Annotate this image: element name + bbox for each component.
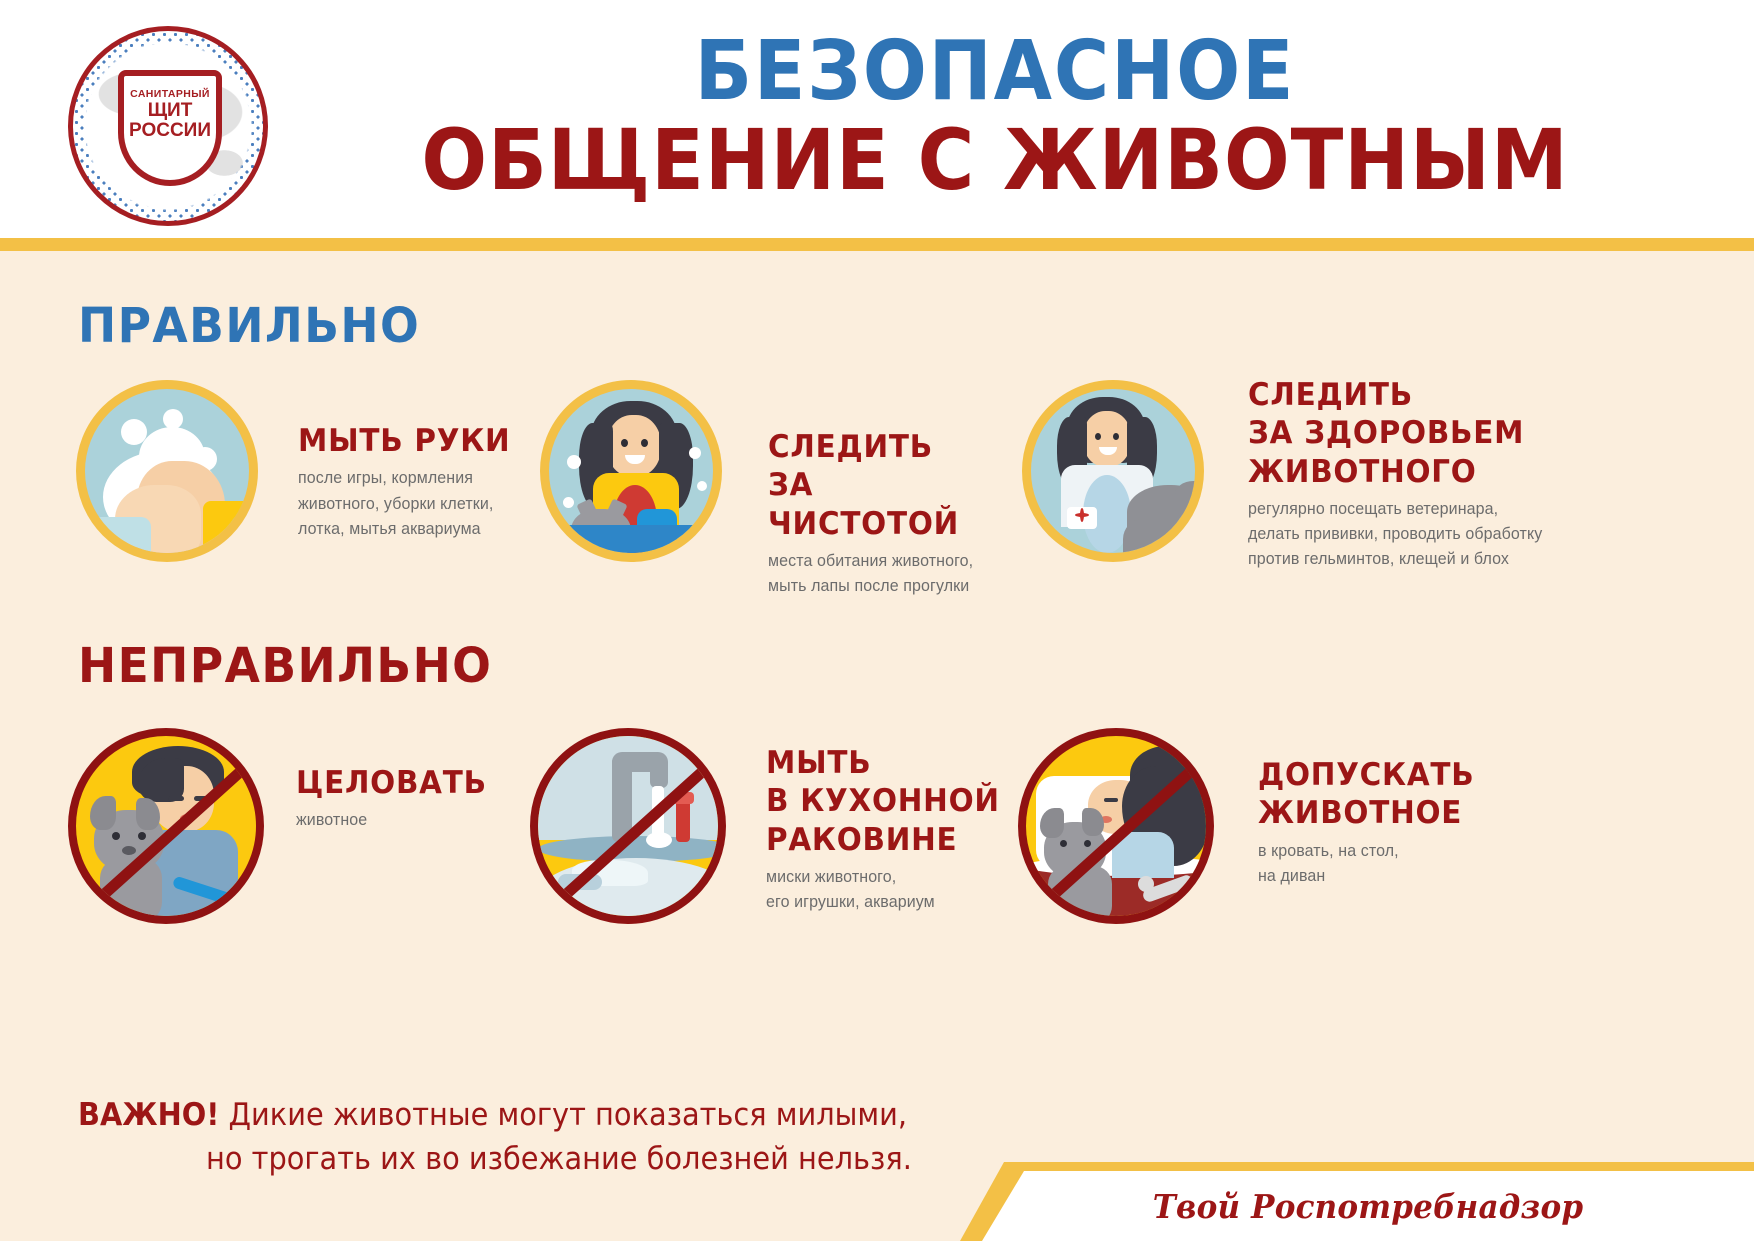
title-line-1: БЕЗОПАСНОЕ [383,34,1607,109]
sanitary-shield-logo: САНИТАРНЫЙ ЩИТ РОССИИ [68,26,268,226]
important-line-2: но трогать их во избежание болезней нель… [206,1137,1017,1181]
correct-item-3-title: СЛЕДИТЬ ЗА ЗДОРОВЬЕМ ЖИВОТНОГО [1248,376,1562,491]
poster-header: САНИТАРНЫЙ ЩИТ РОССИИ БЕЗОПАСНОЕ ОБЩЕНИЕ… [0,0,1754,247]
wrong-item-2-sub: миски животного, его игрушки, аквариум [766,865,1018,915]
section-heading-correct: ПРАВИЛЬНО [78,298,420,354]
important-line-1: ВАЖНО! Дикие животные могут показаться м… [78,1093,1008,1137]
correct-item-2-sub: места обитания животного, мыть лапы посл… [768,549,1020,599]
correct-item-2-title: СЛЕДИТЬ ЗА ЧИСТОТОЙ [768,428,1015,543]
title-line-2: ОБЩЕНИЕ С ЖИВОТНЫМ [383,119,1607,201]
important-note: ВАЖНО! Дикие животные могут показаться м… [78,1093,1078,1181]
footer-text: Твой Роспотребнадзор [1153,1187,1584,1226]
logo-line-3: РОССИИ [129,121,211,141]
veterinarian-dog-icon [1022,380,1204,562]
washing-hands-icon [76,380,258,562]
bathing-cat-icon [540,380,722,562]
correct-item-1-title: МЫТЬ РУКИ [298,422,517,460]
wrong-item-3-title: ДОПУСКАТЬ ЖИВОТНОЕ [1258,756,1543,833]
wrong-item-1-title: ЦЕЛОВАТЬ [296,764,524,802]
wrong-item-2-title: МЫТЬ В КУХОННОЙ РАКОВИНЕ [766,744,1013,859]
poster-title-block: БЕЗОПАСНОЕ ОБЩЕНИЕ С ЖИВОТНЫМ [330,34,1660,202]
wrong-item-1-sub: животное [296,808,529,833]
footer-white-shape: Твой Роспотребнадзор [982,1171,1754,1241]
logo-line-2: ЩИТ [148,101,193,121]
footer-banner: Твой Роспотребнадзор [960,1162,1754,1241]
kitchen-sink-icon [530,728,726,924]
poster-root: САНИТАРНЫЙ ЩИТ РОССИИ БЕЗОПАСНОЕ ОБЩЕНИЕ… [0,0,1754,1241]
correct-item-3-sub: регулярно посещать ветеринара, делать пр… [1248,497,1568,572]
section-heading-wrong: НЕПРАВИЛЬНО [78,638,492,694]
logo-line-1: САНИТАРНЫЙ [130,88,210,100]
kissing-pet-icon [68,728,264,924]
header-divider-bar [0,238,1754,251]
important-label: ВАЖНО! [78,1097,219,1133]
important-text-1: Дикие животные могут показаться милыми, [219,1097,907,1133]
pet-in-bed-icon [1018,728,1214,924]
shield-icon: САНИТАРНЫЙ ЩИТ РОССИИ [118,70,222,186]
correct-item-1-sub: после игры, кормления животного, уборки … [298,466,521,541]
wrong-item-3-sub: в кровать, на стол, на диван [1258,839,1549,889]
